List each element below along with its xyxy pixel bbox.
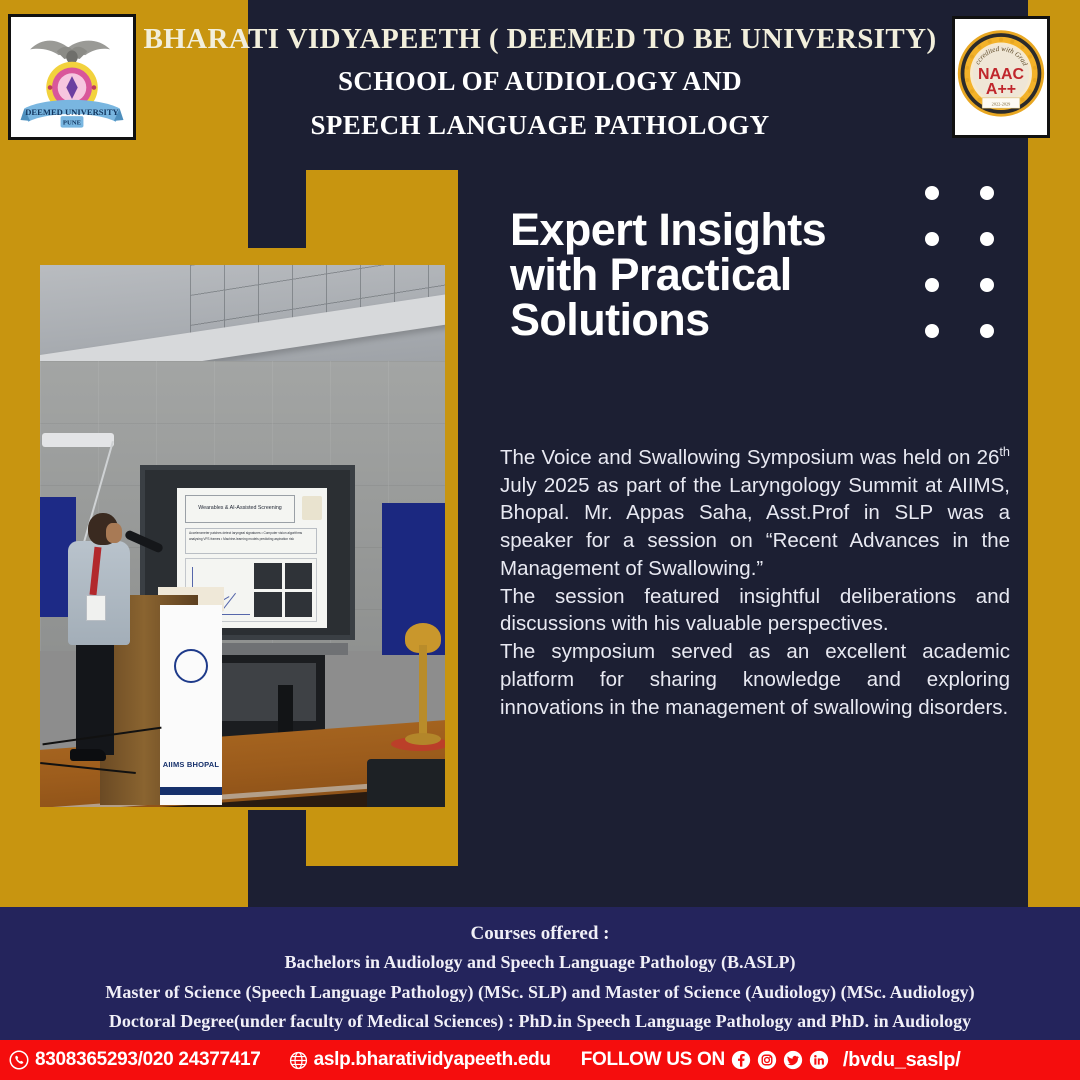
courses-line-1: Bachelors in Audiology and Speech Langua… xyxy=(0,948,1080,977)
naac-badge-art: Accredited with Grade NAAC A++ 2022-2029 xyxy=(955,19,1047,134)
facebook-icon[interactable] xyxy=(731,1050,751,1070)
header-line-1: BHARATI VIDYAPEETH ( DEEMED TO BE UNIVER… xyxy=(140,18,940,60)
footer-social-group: FOLLOW US ON xyxy=(581,1049,961,1072)
photo-speaker-shoes xyxy=(70,749,106,761)
header-line-2: SCHOOL OF AUDIOLOGY AND xyxy=(140,60,940,104)
twitter-icon[interactable] xyxy=(783,1050,803,1070)
headline-line-1: Expert Insights xyxy=(510,207,910,252)
naac-footer-text: 2022-2029 xyxy=(992,101,1011,106)
courses-offered-section: Courses offered : Bachelors in Audiology… xyxy=(0,907,1080,1040)
photo-ottoman xyxy=(367,759,445,807)
svg-text:DEEMED UNIVERSITY: DEEMED UNIVERSITY xyxy=(25,107,119,117)
photo-slide-title: Wearables & AI-Assisted Screening xyxy=(185,495,295,523)
description-paragraph-1: The Voice and Swallowing Symposium was h… xyxy=(500,443,1010,583)
footer-phone-number[interactable]: 8308365293/020 24377417 xyxy=(35,1049,261,1071)
globe-icon xyxy=(289,1051,308,1070)
photo-speaker-id-badge xyxy=(86,595,106,621)
description-text: The Voice and Swallowing Symposium was h… xyxy=(500,443,1010,721)
photo-speaker-face xyxy=(106,523,122,543)
photo-slide-thumbnails xyxy=(254,563,312,617)
contact-footer-bar: 8308365293/020 24377417 aslp.bharatividy… xyxy=(0,1040,1080,1080)
svg-text:PUNE: PUNE xyxy=(63,120,82,127)
photo-slide-logo xyxy=(302,496,322,520)
instagram-icon[interactable] xyxy=(757,1050,777,1070)
headline-line-2: with Practical xyxy=(510,252,910,297)
event-photograph: Wearables & AI-Assisted Screening Accele… xyxy=(40,265,445,807)
footer-website-url[interactable]: aslp.bharatividyapeeth.edu xyxy=(314,1049,551,1071)
footer-follow-label: FOLLOW US ON xyxy=(581,1049,725,1071)
headline-line-3: Solutions xyxy=(510,297,910,342)
poster-header: DEEMED UNIVERSITY PUNE BHARATI VIDYAPEET… xyxy=(0,0,1080,170)
photo-brass-lamp-stem xyxy=(419,645,427,741)
decorative-dot-grid xyxy=(925,186,1007,338)
footer-phone-group: 8308365293/020 24377417 xyxy=(9,1049,261,1071)
bharati-vidyapeeth-logo: DEEMED UNIVERSITY PUNE xyxy=(8,14,136,140)
footer-social-handle[interactable]: /bvdu_saslp/ xyxy=(843,1049,961,1072)
header-title-group: BHARATI VIDYAPEETH ( DEEMED TO BE UNIVER… xyxy=(140,18,940,148)
courses-heading: Courses offered : xyxy=(0,919,1080,948)
description-p1-part-b: July 2025 as part of the Laryngology Sum… xyxy=(500,474,1010,580)
description-paragraph-3: The symposium served as an excellent aca… xyxy=(500,638,1010,721)
gold-left-footer-block xyxy=(0,865,248,907)
photo-podium-banner: AIIMS BHOPAL xyxy=(160,605,222,805)
footer-website-group: aslp.bharatividyapeeth.edu xyxy=(289,1049,551,1071)
photo-projector-screen-housing xyxy=(42,433,114,447)
photo-banner-strip xyxy=(160,787,222,795)
description-ordinal-suffix: th xyxy=(999,444,1010,459)
bharati-vidyapeeth-logo-art: DEEMED UNIVERSITY PUNE xyxy=(11,17,133,137)
navy-notch-block xyxy=(248,810,306,907)
courses-line-3: Doctoral Degree(under faculty of Medical… xyxy=(0,1007,1080,1036)
header-line-3: SPEECH LANGUAGE PATHOLOGY xyxy=(140,104,940,148)
photo-podium-label: AIIMS BHOPAL xyxy=(160,760,222,769)
page-title: Expert Insights with Practical Solutions xyxy=(510,207,910,342)
description-paragraph-2: The session featured insightful delibera… xyxy=(500,583,1010,639)
gold-accent-block-top xyxy=(306,170,458,254)
photo-brass-lamp-base xyxy=(405,733,441,745)
naac-accreditation-badge: Accredited with Grade NAAC A++ 2022-2029 xyxy=(952,16,1050,138)
poster-canvas: DEEMED UNIVERSITY PUNE BHARATI VIDYAPEET… xyxy=(0,0,1080,1080)
naac-grade-line-2: A++ xyxy=(986,81,1016,98)
photo-aiims-emblem xyxy=(174,649,208,683)
phone-icon xyxy=(9,1050,29,1070)
description-p1-part-a: The Voice and Swallowing Symposium was h… xyxy=(500,446,999,469)
courses-line-2: Master of Science (Speech Language Patho… xyxy=(0,978,1080,1007)
linkedin-icon[interactable] xyxy=(809,1050,829,1070)
photo-slide-bullets: Accelerometer patches detect laryngeal s… xyxy=(185,528,317,554)
